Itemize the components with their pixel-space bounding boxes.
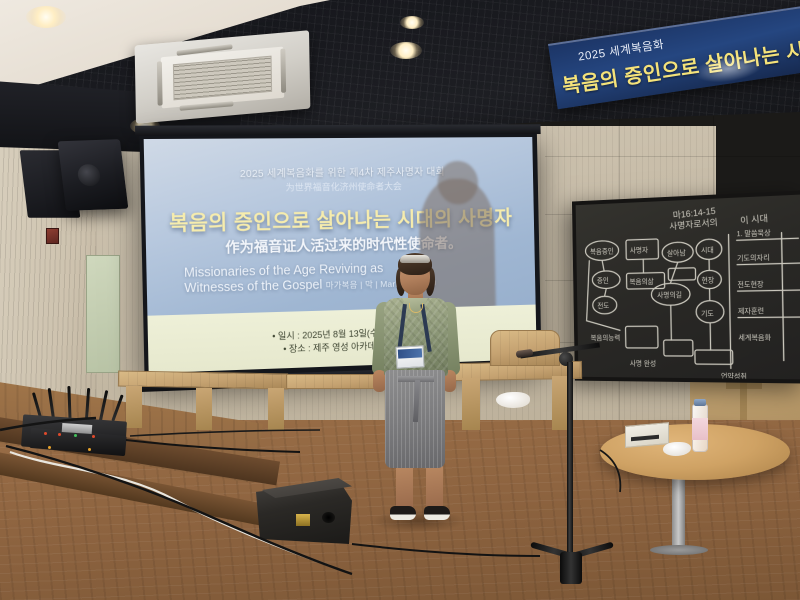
svg-text:사명의길: 사명의길 (657, 290, 682, 300)
pew-cushion (496, 392, 530, 408)
svg-text:기도: 기도 (701, 308, 714, 317)
spotlight-3 (390, 42, 422, 59)
mic-stand-leg-3 (560, 552, 582, 584)
pew-leg-1 (126, 386, 142, 428)
spotlight-1 (26, 6, 66, 28)
ac-inner-frame (161, 47, 284, 109)
svg-text:복음의능력: 복음의능력 (590, 333, 620, 342)
chalkboard-notes: 마16:14-15 사명자로서의 이 시대 복음증인 사명자 살아남 시대 증인… (576, 194, 800, 383)
chalkboard: 마16:14-15 사명자로서의 이 시대 복음증인 사명자 살아남 시대 증인… (572, 190, 800, 383)
conference-badge-header (398, 348, 422, 358)
svg-text:제자훈련: 제자훈련 (738, 306, 764, 316)
ac-grille (173, 56, 272, 101)
water-bottle-cap (694, 399, 706, 406)
rack-led-4 (92, 435, 95, 438)
mic-stand-pole (567, 362, 573, 552)
presenter-right-leg (426, 462, 443, 512)
rack-led-1 (44, 432, 47, 435)
projection-screen: 2025 세계복음화를 위한 제4차 제주사명자 대회 为世界福音化济州使命者大… (139, 133, 541, 382)
presenter-right-sandal (424, 506, 450, 520)
svg-text:전도현장: 전도현장 (737, 279, 763, 289)
rack-led-6 (88, 448, 91, 451)
screen-top-bar (135, 124, 541, 136)
svg-text:현장: 현장 (701, 275, 714, 285)
slide-title-en-line2: Witnesses of the Gospel (184, 278, 322, 296)
svg-text:사명자: 사명자 (630, 245, 649, 255)
presenter-left-sandal (390, 506, 416, 520)
pa-speaker-icon (58, 139, 129, 211)
pew-backrest (490, 330, 560, 366)
rack-led-2 (58, 433, 61, 436)
svg-text:복음의삶: 복음의삶 (629, 276, 653, 286)
presenter-floor-shadow (372, 510, 464, 532)
wall-cross-arm (726, 382, 762, 389)
ac-vane-left (157, 61, 163, 106)
sunglasses-icon (400, 255, 430, 263)
stage-monitor-port (322, 512, 335, 523)
svg-text:살아남: 살아남 (667, 248, 686, 258)
spotlight-4 (400, 16, 424, 29)
ac-vane-right (280, 48, 286, 93)
svg-text:시대: 시대 (701, 246, 714, 255)
pew-leg-4 (462, 378, 480, 430)
presenter-left-leg (396, 462, 413, 512)
water-bottle-label (692, 418, 708, 440)
rack-led-5 (48, 446, 51, 449)
pew-leg-3 (268, 388, 284, 430)
svg-text:이 시대: 이 시대 (740, 213, 768, 226)
pew-leg-2 (196, 388, 212, 430)
svg-text:기도의자리: 기도의자리 (737, 252, 770, 262)
photo-scene: 2025 세계복음화 복음의 증인으로 살아나는 시대 마16:14-15 사명… (0, 0, 800, 600)
svg-text:사명 완성: 사명 완성 (630, 358, 656, 367)
svg-text:세계복음화: 세계복음화 (738, 332, 771, 342)
wall-glass-panel (86, 255, 120, 373)
svg-text:복음증인: 복음증인 (590, 246, 614, 256)
table-stem (672, 468, 685, 550)
pew-bench-1 (118, 371, 288, 390)
stage-monitor-badge (296, 514, 310, 526)
svg-text:전도: 전도 (597, 301, 609, 310)
table-foot (650, 545, 708, 555)
slide-surface: 2025 세계복음화를 위한 제4차 제주사명자 대회 为世界福音化济州使命者大… (144, 137, 537, 373)
svg-text:증인: 증인 (597, 276, 609, 285)
svg-text:언약성취: 언약성취 (721, 371, 747, 381)
ceiling-ac-unit (135, 30, 311, 123)
wall-fire-alarm-box (46, 228, 59, 244)
svg-text:1. 말씀묵상: 1. 말씀묵상 (736, 228, 770, 239)
rack-led-3 (74, 434, 77, 437)
